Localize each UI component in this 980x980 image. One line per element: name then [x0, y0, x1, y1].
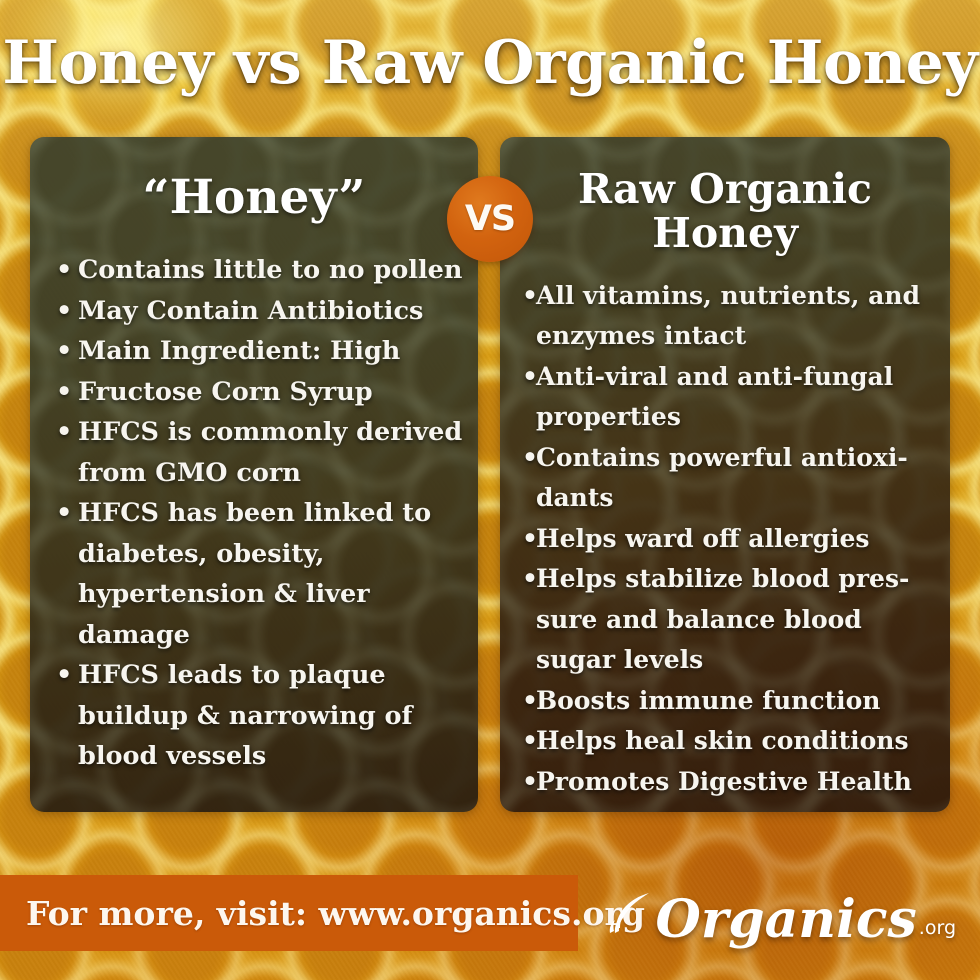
bullet-glyph: • [56, 412, 72, 453]
logo-tld-text: .org [919, 917, 956, 939]
list-item-text: HFCS has been linked to diabetes, obesit… [78, 498, 431, 650]
list-item-text: Helps ward off allergies [536, 524, 869, 553]
panel-left-heading: “Honey” [30, 137, 478, 222]
list-item-text: HFCS leads to plaque buildup & narrowing… [78, 660, 413, 771]
bullet-glyph: • [522, 681, 538, 722]
list-item: •Anti-viral and anti-fungal properties [522, 357, 942, 438]
vs-badge-label: VS [465, 199, 515, 239]
bullet-glyph: • [56, 291, 72, 332]
list-item: •HFCS leads to plaque buildup & narrowin… [56, 655, 468, 777]
panel-right-heading-line1: Raw Organic [578, 165, 872, 213]
list-item-text: Helps stabilize blood pres­sure and bala… [536, 564, 909, 674]
logo-brand-text: Organics [656, 894, 917, 946]
panel-left-content: “Honey” •Contains little to no pollen •M… [30, 137, 478, 777]
bullet-glyph: • [522, 762, 538, 803]
list-item: •HFCS is commonly derived from GMO corn [56, 412, 468, 493]
list-item-text: Helps heal skin conditions [536, 726, 909, 755]
list-item: •Contains powerful antioxi­dants [522, 438, 942, 519]
left-bullet-list: •Contains little to no pollen •May Conta… [30, 250, 478, 777]
page-title: Honey vs Raw Organic Honey [0, 28, 980, 98]
bullet-glyph: • [522, 276, 538, 317]
list-item-text: May Contain Antibiotics [78, 296, 423, 326]
list-item: •Promotes Digestive Health [522, 762, 942, 803]
panel-right-heading: Raw Organic Honey [500, 137, 950, 256]
footer-cta-text: For more, visit: www.organics.org [0, 894, 645, 933]
list-item-text: Fructose Corn Syrup [78, 377, 373, 407]
list-item: •Helps ward off allergies [522, 519, 942, 560]
infographic-canvas: Honey vs Raw Organic Honey “Honey” •Cont… [0, 0, 980, 980]
panel-right-content: Raw Organic Honey •All vitamins, nutrien… [500, 137, 950, 802]
list-item: •Main Ingredient: High [56, 331, 468, 372]
bullet-glyph: • [56, 372, 72, 413]
vs-badge: VS [447, 176, 533, 262]
bullet-glyph: • [522, 438, 538, 479]
bullet-glyph: • [522, 721, 538, 762]
list-item: •May Contain Antibiotics [56, 291, 468, 332]
list-item-text: HFCS is commonly derived from GMO corn [78, 417, 462, 488]
list-item: •Fructose Corn Syrup [56, 372, 468, 413]
bullet-glyph: • [522, 559, 538, 600]
list-item-text: Main Ingredient: High [78, 336, 400, 366]
list-item: •HFCS has been linked to diabetes, obesi… [56, 493, 468, 655]
footer-cta-bar: For more, visit: www.organics.org [0, 875, 578, 951]
bullet-glyph: • [56, 655, 72, 696]
bullet-glyph: • [56, 493, 72, 534]
list-item: •All vitamins, nutrients, and enzymes in… [522, 276, 942, 357]
panel-right-heading-line2: Honey [500, 211, 950, 255]
leaf-icon [608, 890, 654, 940]
bullet-glyph: • [522, 357, 538, 398]
list-item-text: Contains little to no pollen [78, 255, 462, 285]
list-item: •Helps heal skin conditions [522, 721, 942, 762]
right-bullet-list: •All vitamins, nutrients, and enzymes in… [500, 276, 950, 803]
bullet-glyph: • [56, 331, 72, 372]
bullet-glyph: • [56, 250, 72, 291]
list-item-text: Anti-viral and anti-fungal properties [536, 362, 893, 432]
panel-conventional-honey: “Honey” •Contains little to no pollen •M… [30, 137, 478, 812]
bullet-glyph: • [522, 519, 538, 560]
list-item: •Contains little to no pollen [56, 250, 468, 291]
panel-raw-organic-honey: Raw Organic Honey •All vitamins, nutrien… [500, 137, 950, 812]
list-item-text: Promotes Digestive Health [536, 767, 912, 796]
list-item-text: Boosts immune function [536, 686, 880, 715]
list-item: •Boosts immune function [522, 681, 942, 722]
organics-logo[interactable]: Organics .org [608, 880, 956, 946]
list-item: •Helps stabilize blood pres­sure and bal… [522, 559, 942, 681]
list-item-text: All vitamins, nutrients, and enzymes int… [536, 281, 920, 351]
list-item-text: Contains powerful antioxi­dants [536, 443, 908, 513]
